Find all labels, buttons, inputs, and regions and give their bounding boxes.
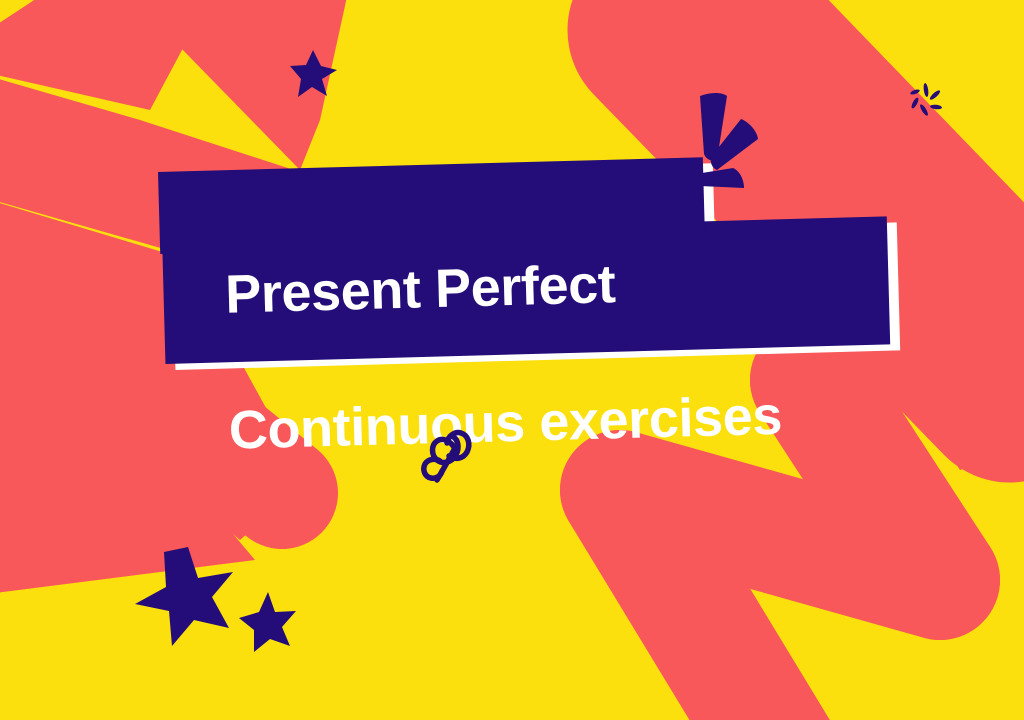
poster-canvas: Present Perfect Continuous exercises <box>0 0 1024 720</box>
title-line-1: Present Perfect <box>224 241 940 328</box>
title-banner: Present Perfect Continuous exercises <box>0 0 1024 720</box>
title-line-2: Continuous exercises <box>228 377 944 464</box>
page-title: Present Perfect Continuous exercises <box>176 155 945 533</box>
